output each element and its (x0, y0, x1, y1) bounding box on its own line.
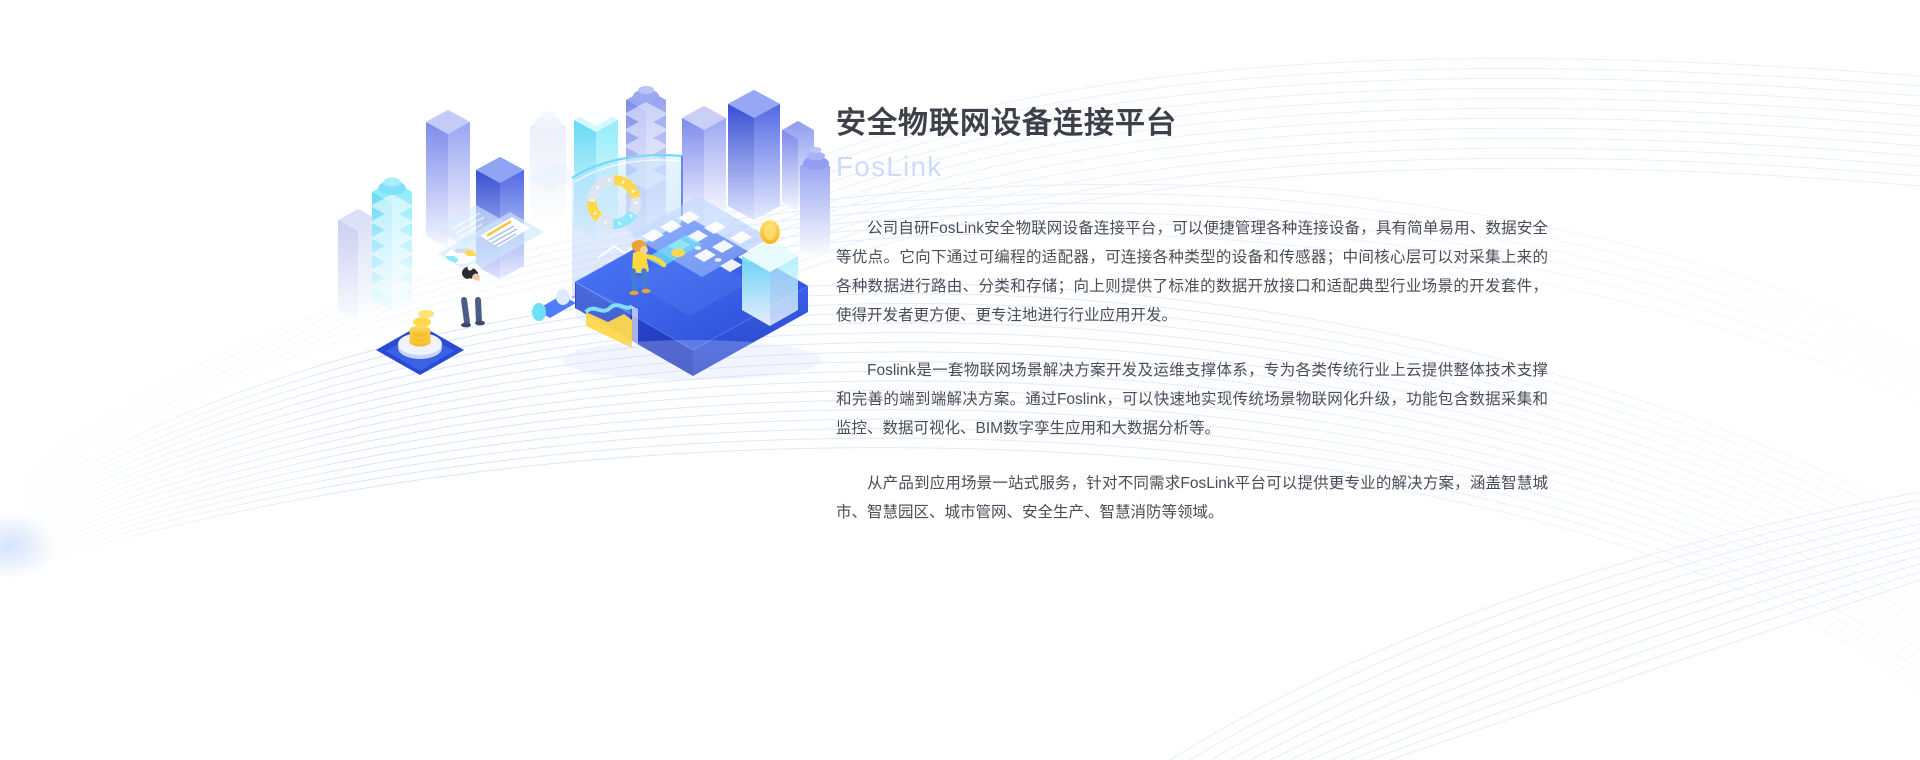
page-title: 安全物联网设备连接平台 (836, 104, 1556, 144)
connector-pipe (532, 289, 576, 321)
building-blue-right-2 (728, 90, 780, 220)
pie-chart-small (446, 248, 476, 264)
description-body: 公司自研FosLink安全物联网设备连接平台，可以便捷管理各种连接设备，具有简单… (836, 214, 1548, 527)
building-round-far-right (800, 147, 830, 259)
hero-banner: 安全物联网设备连接平台 FosLink 公司自研FosLink安全物联网设备连接… (0, 0, 1920, 760)
person-white-shirt (461, 266, 495, 327)
coin-stack (409, 310, 434, 347)
coin-stack-pad (376, 310, 464, 375)
product-name-subtitle: FosLink (836, 148, 1556, 186)
paragraph-overview: 公司自研FosLink安全物联网设备连接平台，可以便捷管理各种连接设备，具有简单… (836, 214, 1548, 330)
iot-platform-illustration (330, 60, 830, 380)
paragraph-scenarios: 从产品到应用场景一站式服务，针对不同需求FosLink平台可以提供更专业的解决方… (836, 469, 1548, 527)
building-cyan-pagoda (370, 178, 414, 312)
paragraph-solution-system: Foslink是一套物联网场景解决方案开发及运维支撑体系，专为各类传统行业上云提… (836, 356, 1548, 443)
hero-text-column: 安全物联网设备连接平台 FosLink 公司自研FosLink安全物联网设备连接… (836, 104, 1556, 527)
